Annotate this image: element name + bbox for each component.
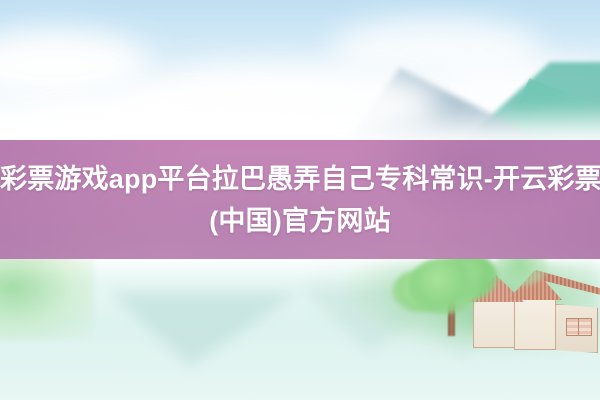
banner-title-line-2: (中国)官方网站 bbox=[0, 200, 600, 242]
cottage-front-wall bbox=[514, 298, 556, 350]
cottage-window-mullion bbox=[578, 318, 579, 336]
tree-canopy-main bbox=[408, 258, 480, 314]
banner-title-line-1: 彩票游戏app平台拉巴愚弄自己专科常识-开云彩票 bbox=[0, 158, 600, 200]
cottage-wing-wall bbox=[473, 300, 519, 348]
foliage-left-lower bbox=[0, 258, 94, 340]
title-band-text: 彩票游戏app平台拉巴愚弄自己专科常识-开云彩票 (中国)官方网站 bbox=[0, 140, 600, 259]
banner-image: 彩票游戏app平台拉巴愚弄自己专科常识-开云彩票 (中国)官方网站 bbox=[0, 0, 600, 400]
water-reflection bbox=[110, 292, 300, 366]
cottage-window bbox=[566, 318, 592, 336]
